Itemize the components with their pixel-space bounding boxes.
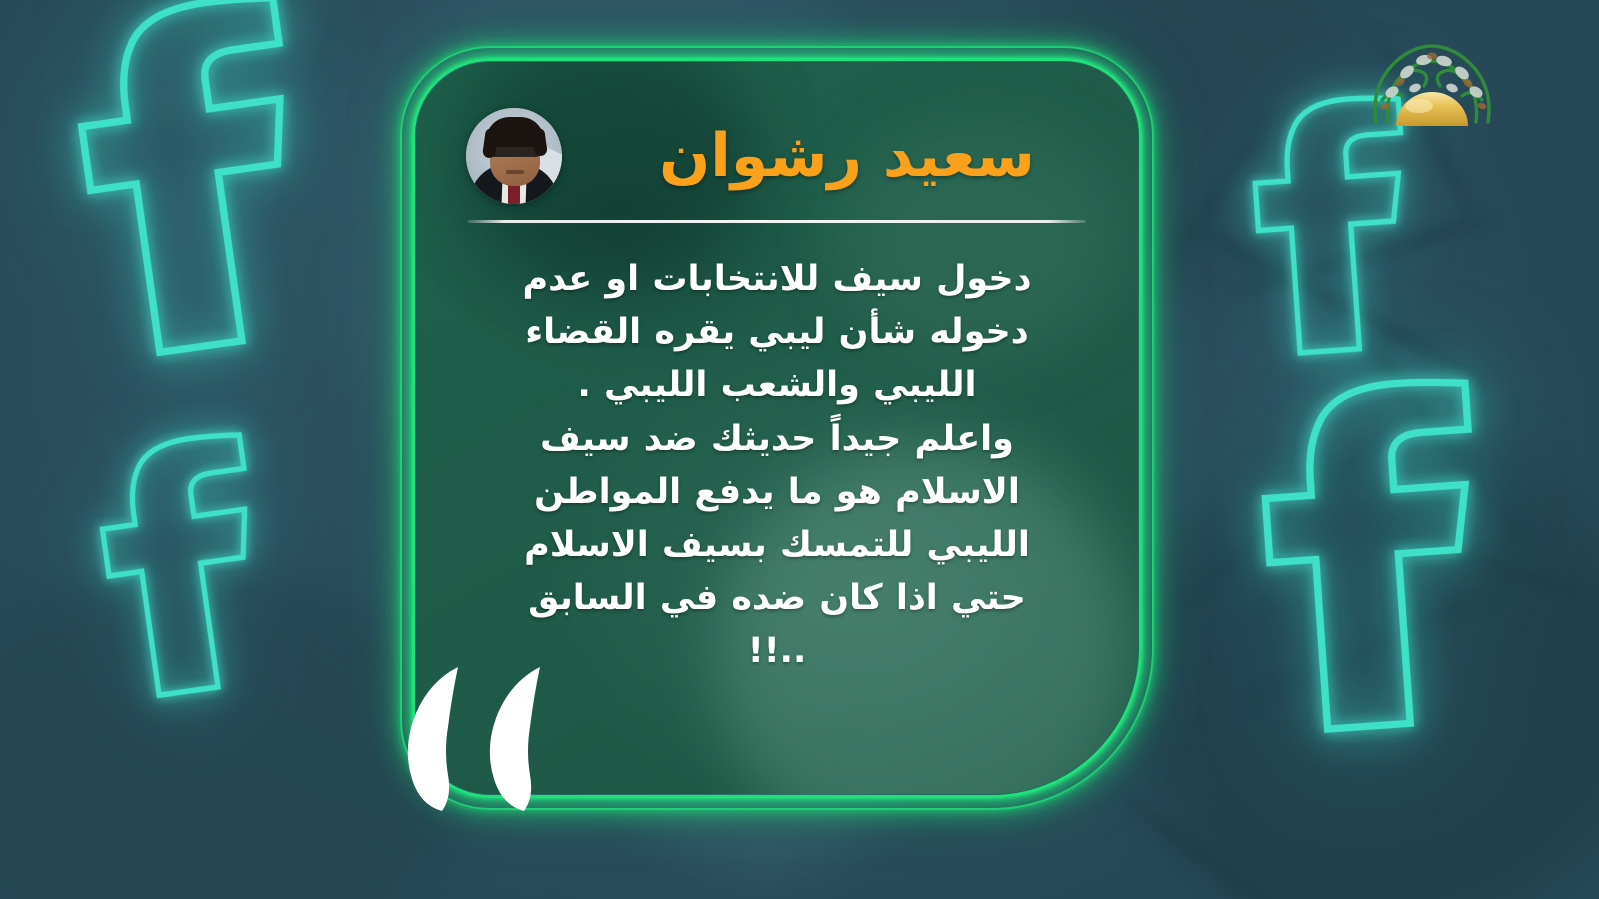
quote-line: دخوله شأن ليبي يقره القضاء [478, 306, 1076, 359]
quote-line: دخول سيف للانتخابات او عدم [478, 253, 1076, 306]
quote-text: دخول سيف للانتخابات او عدم دخوله شأن ليب… [466, 253, 1088, 679]
avatar [466, 108, 562, 204]
ornamental-dome-logo [1352, 22, 1512, 132]
poster-canvas: سعيد رشوان دخول سيف [0, 0, 1599, 899]
background-blur-shape [0, 560, 460, 899]
background-blur-shape [1130, 430, 1599, 899]
avatar-mouth [506, 170, 524, 174]
quote-line: الليبي والشعب الليبي . [478, 359, 1076, 412]
card-header: سعيد رشوان [466, 100, 1088, 212]
quote-line: ..!! [478, 625, 1076, 678]
speaker-name: سعيد رشوان [584, 121, 1084, 191]
quote-line: الاسلام هو ما يدفع المواطن [478, 466, 1076, 519]
quote-line: واعلم جيداً حديثك ضد سيف [478, 413, 1076, 466]
quote-line: الليبي للتمسك بسيف الاسلام [478, 519, 1076, 572]
card-content: سعيد رشوان دخول سيف [412, 58, 1142, 798]
quote-card: سعيد رشوان دخول سيف [412, 58, 1142, 798]
quote-line: حتي اذا كان ضده في السابق [478, 572, 1076, 625]
background-branch [1196, 223, 1493, 389]
header-divider [468, 220, 1086, 223]
